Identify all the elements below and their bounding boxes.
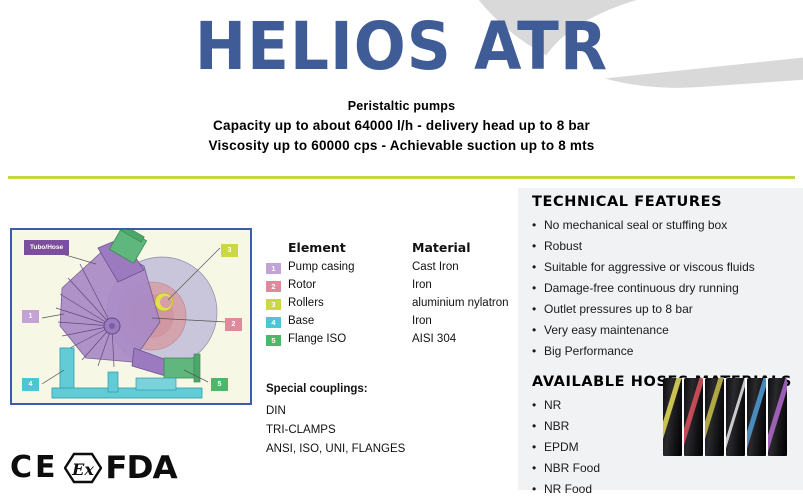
list-item: No mechanical seal or stuffing box: [532, 215, 800, 236]
number-badge: 4: [266, 317, 281, 328]
pump-cutaway-diagram: Tubo/Hose 1 2 3 4 5: [10, 228, 252, 405]
table-row: 3 Rollers aluminium nylatron: [266, 294, 516, 312]
hose-sample: [705, 378, 724, 456]
list-item: Big Performance: [532, 341, 800, 362]
element-name: Rotor: [288, 279, 412, 291]
material-name: aluminium nylatron: [412, 297, 516, 309]
number-badge: 5: [266, 335, 281, 346]
column-header-material: Material: [412, 240, 516, 255]
coupling-item: DIN: [266, 402, 405, 421]
list-item: NBR Food: [532, 458, 800, 479]
subtitle-block: Peristaltic pumps Capacity up to about 6…: [0, 96, 803, 156]
coupling-item: ANSI, ISO, UNI, FLANGES: [266, 440, 405, 459]
special-couplings-section: Special couplings: DIN TRI-CLAMPS ANSI, …: [266, 383, 405, 459]
row-badge-cell: 3: [266, 294, 288, 312]
element-name: Base: [288, 315, 412, 327]
number-badge: 2: [266, 281, 281, 292]
element-name: Pump casing: [288, 261, 412, 273]
hose-sample: [768, 378, 787, 456]
technical-features-list: No mechanical seal or stuffing box Robus…: [532, 215, 800, 362]
fda-mark-icon: FDA: [105, 453, 176, 484]
subtitle-line-1: Peristaltic pumps: [0, 96, 803, 116]
special-couplings-heading: Special couplings:: [266, 383, 405, 395]
material-name: Iron: [412, 315, 516, 327]
list-item: NR Food: [532, 479, 800, 500]
page-title: HELIOS ATR: [0, 14, 803, 80]
list-item: Outlet pressures up to 8 bar: [532, 299, 800, 320]
subtitle-line-2: Capacity up to about 64000 l/h - deliver…: [0, 116, 803, 136]
hose-samples-photo: [663, 378, 787, 456]
hose-sample: [663, 378, 682, 456]
row-badge-cell: 5: [266, 330, 288, 348]
element-name: Flange ISO: [288, 333, 412, 345]
material-name: Cast Iron: [412, 261, 516, 273]
page-header: HELIOS ATR Peristaltic pumps Capacity up…: [0, 0, 803, 156]
column-header-element: Element: [288, 240, 412, 255]
hose-sample: [684, 378, 703, 456]
certification-marks: CE Ex FDA: [10, 452, 174, 484]
row-badge-cell: 4: [266, 312, 288, 330]
table-row: 1 Pump casing Cast Iron: [266, 258, 516, 276]
ce-mark-icon: CE: [10, 453, 59, 483]
element-material-table: Element Material 1 Pump casing Cast Iron…: [266, 236, 516, 348]
number-badge: 1: [266, 263, 281, 274]
coupling-item: TRI-CLAMPS: [266, 421, 405, 440]
diagram-badge-4: 4: [22, 378, 39, 391]
subtitle-line-3: Viscosity up to 60000 cps - Achievable s…: [0, 136, 803, 156]
material-name: AISI 304: [412, 333, 516, 345]
element-name: Rollers: [288, 297, 412, 309]
list-item: Suitable for aggressive or viscous fluid…: [532, 257, 800, 278]
material-name: Iron: [412, 279, 516, 291]
svg-text:Ex: Ex: [71, 460, 94, 479]
number-badge: 3: [266, 299, 281, 310]
diagram-badge-1: 1: [22, 310, 39, 323]
table-row: 4 Base Iron: [266, 312, 516, 330]
list-item: Robust: [532, 236, 800, 257]
hose-sample: [747, 378, 766, 456]
row-badge-cell: 1: [266, 258, 288, 276]
table-row: 5 Flange ISO AISI 304: [266, 330, 516, 348]
table-header-row: Element Material: [266, 236, 516, 258]
diagram-badge-2: 2: [225, 318, 242, 331]
table-row: 2 Rotor Iron: [266, 276, 516, 294]
technical-features-heading: TECHNICAL FEATURES: [532, 194, 800, 210]
list-item: Damage-free continuous dry running: [532, 278, 800, 299]
row-badge-cell: 2: [266, 276, 288, 294]
atex-ex-mark-icon: Ex: [64, 452, 102, 484]
header-divider: [8, 176, 795, 179]
diagram-badge-3: 3: [221, 244, 238, 257]
list-item: Very easy maintenance: [532, 320, 800, 341]
hose-sample: [726, 378, 745, 456]
diagram-label-hose: Tubo/Hose: [24, 240, 69, 255]
diagram-badge-5: 5: [211, 378, 228, 391]
